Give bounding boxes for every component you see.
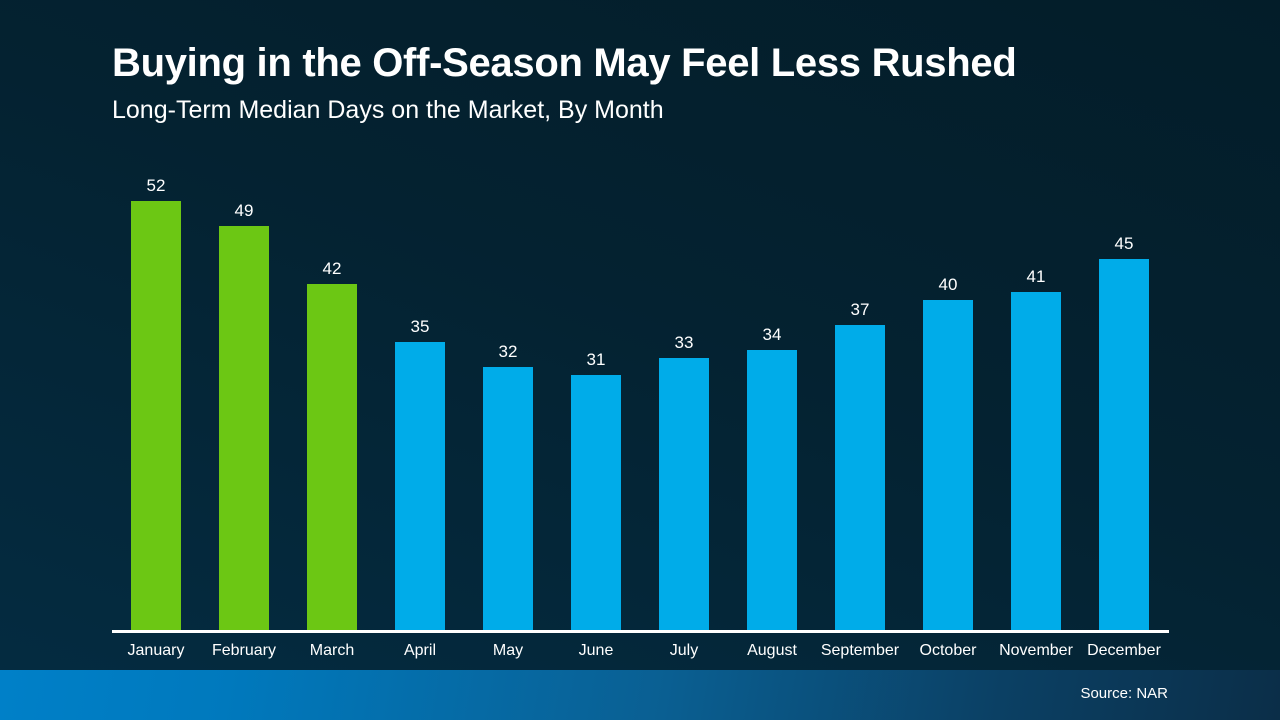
bar-column: 49 xyxy=(200,170,288,632)
bar-rect[interactable] xyxy=(1099,259,1149,632)
bar-value-label: 37 xyxy=(851,301,870,318)
bar-column: 31 xyxy=(552,170,640,632)
bar-column: 37 xyxy=(816,170,904,632)
x-axis-tick-label: December xyxy=(1080,638,1168,664)
x-axis-tick-label: March xyxy=(288,638,376,664)
bar-value-label: 31 xyxy=(587,351,606,368)
bar-column: 52 xyxy=(112,170,200,632)
bar-rect[interactable] xyxy=(1011,292,1061,632)
bar-rect[interactable] xyxy=(395,342,445,632)
x-axis-tick-label: August xyxy=(728,638,816,664)
bar-rect[interactable] xyxy=(747,350,797,632)
chart-plot-area: 524942353231333437404145 xyxy=(112,170,1168,632)
bar-column: 33 xyxy=(640,170,728,632)
header: Buying in the Off-Season May Feel Less R… xyxy=(112,42,1212,125)
x-axis-tick-label: May xyxy=(464,638,552,664)
bar-rect[interactable] xyxy=(923,300,973,632)
bar-value-label: 33 xyxy=(675,334,694,351)
bar-rect[interactable] xyxy=(307,284,357,632)
x-axis-tick-label: November xyxy=(992,638,1080,664)
x-axis-tick-label: June xyxy=(552,638,640,664)
bar-value-label: 49 xyxy=(235,202,254,219)
bar-value-label: 45 xyxy=(1115,235,1134,252)
bar-rect[interactable] xyxy=(131,201,181,632)
slide-canvas: Buying in the Off-Season May Feel Less R… xyxy=(0,0,1280,720)
bar-value-label: 34 xyxy=(763,326,782,343)
bar-value-label: 52 xyxy=(147,177,166,194)
bar-column: 34 xyxy=(728,170,816,632)
bar-value-label: 42 xyxy=(323,260,342,277)
bar-series: 524942353231333437404145 xyxy=(112,170,1168,632)
bar-value-label: 35 xyxy=(411,318,430,335)
bar-value-label: 41 xyxy=(1027,268,1046,285)
chart-subtitle: Long-Term Median Days on the Market, By … xyxy=(112,97,1212,125)
bar-column: 41 xyxy=(992,170,1080,632)
x-axis-tick-label: February xyxy=(200,638,288,664)
bar-rect[interactable] xyxy=(219,226,269,632)
source-attribution: Source: NAR xyxy=(1080,685,1168,702)
x-axis-tick-label: October xyxy=(904,638,992,664)
bar-column: 32 xyxy=(464,170,552,632)
x-axis-category-labels: JanuaryFebruaryMarchAprilMayJuneJulyAugu… xyxy=(112,638,1168,664)
x-axis-tick-label: September xyxy=(816,638,904,664)
x-axis-tick-label: July xyxy=(640,638,728,664)
bar-column: 40 xyxy=(904,170,992,632)
bar-rect[interactable] xyxy=(571,375,621,632)
x-axis-tick-label: April xyxy=(376,638,464,664)
bar-column: 35 xyxy=(376,170,464,632)
bar-rect[interactable] xyxy=(659,358,709,632)
bar-column: 45 xyxy=(1080,170,1168,632)
bar-value-label: 40 xyxy=(939,276,958,293)
page-title: Buying in the Off-Season May Feel Less R… xyxy=(112,42,1212,84)
footer-bar: Source: NAR xyxy=(0,670,1280,720)
x-axis-line xyxy=(112,630,1169,633)
bar-column: 42 xyxy=(288,170,376,632)
bar-value-label: 32 xyxy=(499,343,518,360)
bar-rect[interactable] xyxy=(835,325,885,632)
x-axis-tick-label: January xyxy=(112,638,200,664)
bar-rect[interactable] xyxy=(483,367,533,632)
